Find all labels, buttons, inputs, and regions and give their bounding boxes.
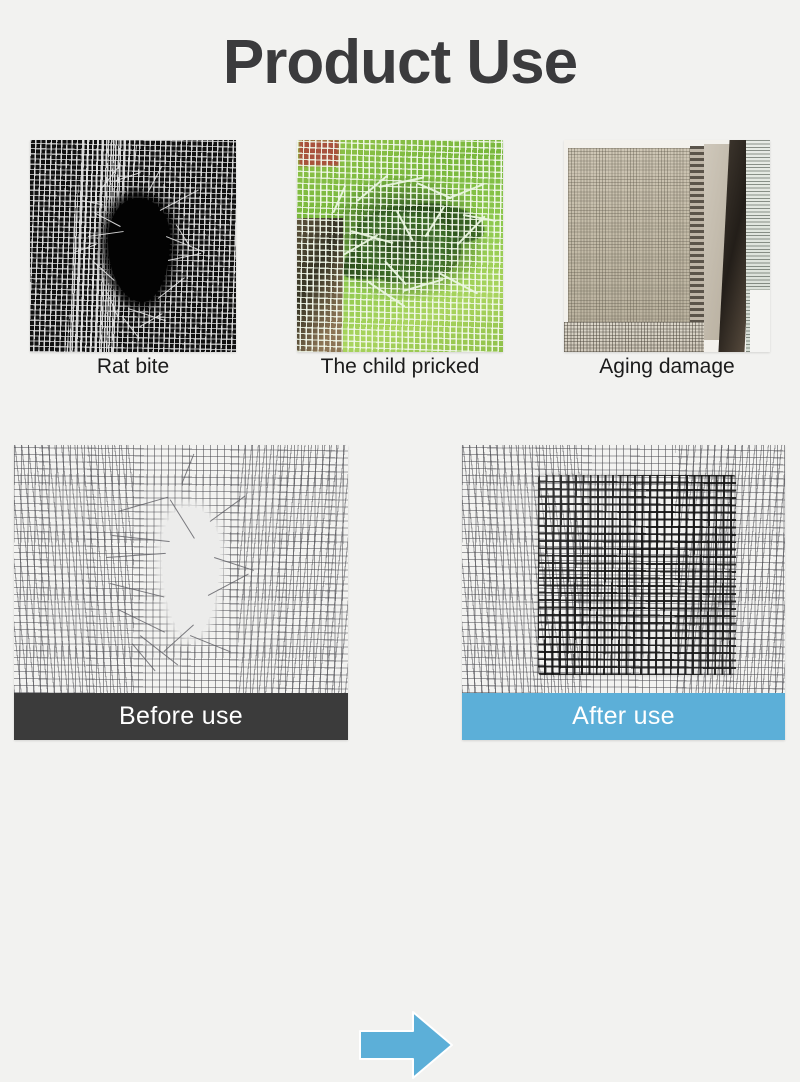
damage-examples-row <box>30 140 770 352</box>
damage-photo-aging <box>564 140 770 352</box>
caption-rat-bite: Rat bite <box>30 355 236 380</box>
caption-aging-damage: Aging damage <box>564 355 770 380</box>
distorted-weave-right <box>238 445 348 693</box>
product-use-infographic: Product Use <box>0 0 800 800</box>
damage-photo-child-pricked <box>297 140 503 352</box>
lower-mesh-strip <box>564 322 704 352</box>
black-repair-patch <box>538 475 736 675</box>
page-title: Product Use <box>0 30 800 95</box>
before-label-text: Before use <box>119 702 243 731</box>
before-photo: Before use <box>14 445 348 740</box>
damage-captions-row: Rat bite The child pricked Aging damage <box>30 355 770 380</box>
mesh-weave-texture <box>297 140 503 352</box>
patch-sheen-overlay <box>538 475 736 675</box>
after-label-text: After use <box>572 702 675 731</box>
distorted-weave-left <box>14 445 134 693</box>
fastener-strip <box>690 146 704 338</box>
caption-child-pricked: The child pricked <box>297 355 503 380</box>
before-after-comparison: Before use After use <box>0 445 800 745</box>
after-photo: After use <box>462 445 785 740</box>
damage-photo-rat-bite <box>30 140 236 352</box>
bright-highlight-region <box>750 290 770 352</box>
before-label-bar: Before use <box>14 693 348 740</box>
right-arrow-icon <box>358 1008 454 1082</box>
aged-screen-panel <box>568 148 690 336</box>
mesh-weave-texture <box>568 148 690 336</box>
after-label-bar: After use <box>462 693 785 740</box>
frayed-strands-group <box>30 140 236 352</box>
